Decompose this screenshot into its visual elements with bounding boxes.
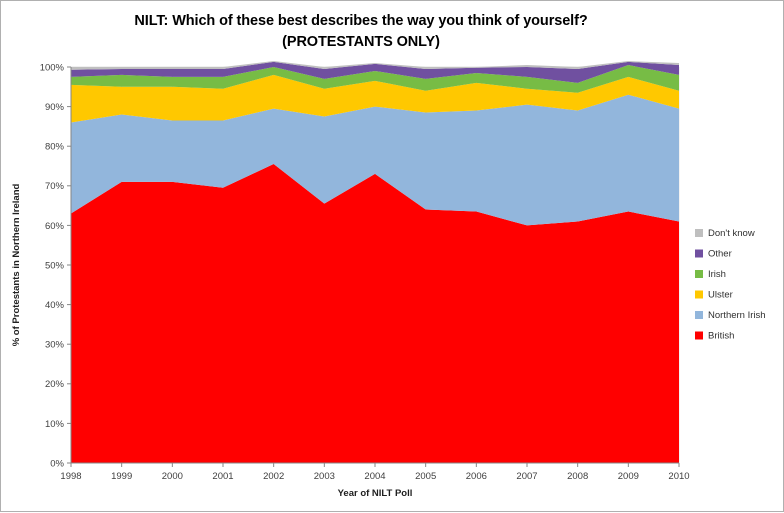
y-tick-label: 50%	[45, 260, 65, 271]
x-tick-label: 2000	[162, 471, 183, 482]
legend-swatch-don-t-know	[695, 229, 703, 237]
x-tick-label: 2009	[618, 471, 639, 482]
legend-label-british: British	[708, 331, 734, 342]
x-tick-label: 2003	[314, 471, 335, 482]
legend-label-don-t-know: Don't know	[708, 228, 755, 239]
chart-page: NILT: Which of these best describes the …	[0, 0, 784, 512]
x-tick-label: 1999	[111, 471, 132, 482]
legend-label-ulster: Ulster	[708, 290, 733, 301]
y-tick-label: 30%	[45, 340, 65, 351]
y-tick-label: 0%	[50, 458, 64, 469]
x-tick-label: 1998	[60, 471, 81, 482]
stacked-area-chart: 0%10%20%30%40%50%60%70%80%90%100% 199819…	[1, 1, 784, 513]
y-tick-label: 90%	[45, 102, 65, 113]
legend-swatch-british	[695, 332, 703, 340]
area-series-group	[71, 61, 679, 463]
x-tick-label: 2007	[516, 471, 537, 482]
legend-label-other: Other	[708, 249, 732, 260]
x-tick-label: 2004	[364, 471, 385, 482]
legend-label-irish: Irish	[708, 269, 726, 280]
y-axis-title: % of Protestants in Northern Ireland	[11, 184, 22, 347]
y-axis-ticks: 0%10%20%30%40%50%60%70%80%90%100%	[40, 62, 71, 469]
y-tick-label: 70%	[45, 181, 65, 192]
y-tick-label: 20%	[45, 379, 65, 390]
x-tick-label: 2002	[263, 471, 284, 482]
y-tick-label: 80%	[45, 142, 65, 153]
legend-swatch-northern-irish	[695, 311, 703, 319]
x-tick-label: 2010	[668, 471, 689, 482]
x-tick-label: 2006	[466, 471, 487, 482]
x-tick-label: 2008	[567, 471, 588, 482]
chart-legend: Don't knowOtherIrishUlsterNorthern Irish…	[695, 228, 766, 342]
legend-swatch-irish	[695, 270, 703, 278]
x-axis-ticks: 1998199920002001200220032004200520062007…	[60, 463, 689, 482]
x-axis-title: Year of NILT Poll	[338, 488, 413, 499]
y-tick-label: 60%	[45, 221, 65, 232]
x-tick-label: 2001	[212, 471, 233, 482]
legend-label-northern-irish: Northern Irish	[708, 310, 766, 321]
y-tick-label: 10%	[45, 419, 65, 430]
y-tick-label: 100%	[40, 62, 65, 73]
y-tick-label: 40%	[45, 300, 65, 311]
x-tick-label: 2005	[415, 471, 436, 482]
legend-swatch-other	[695, 250, 703, 258]
legend-swatch-ulster	[695, 291, 703, 299]
